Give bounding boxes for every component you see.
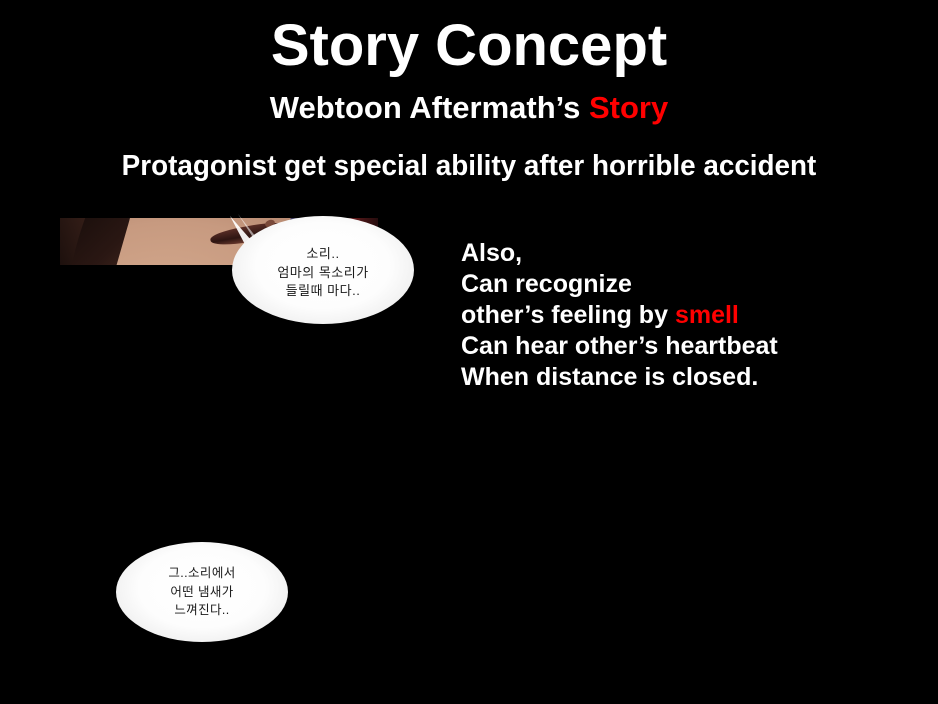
slide-tagline: Protagonist get special ability after ho… [19,150,919,183]
slide-subtitle: Webtoon Aftermath’s Story [0,90,938,126]
speech-bubble-1-text: 소리.. 엄마의 목소리가 들릴때 마다.. [277,245,368,302]
body-line-feeling-prefix: other’s feeling by [461,301,675,329]
speech-bubble-2: 그..소리에서 어떤 냄새가 느껴진다.. [116,542,288,642]
speech-bubble-2-text: 그..소리에서 어떤 냄새가 느껴진다.. [168,564,235,620]
body-paragraph-smell: Can recognizeother’s feeling by smell [461,269,901,331]
body-text-block: Also, Can recognizeother’s feeling by sm… [461,238,901,393]
body-paragraph-heartbeat: Can hear other’s heartbeat When distance… [461,331,901,393]
body-line-also: Also, [461,238,901,269]
slide-canvas: Story Concept Webtoon Aftermath’s Story … [0,0,938,704]
subtitle-prefix: Webtoon Aftermath’s [270,90,589,125]
body-line-recognize: Can recognize [461,270,632,298]
subtitle-accent: Story [589,90,668,125]
speech-bubble-1: 소리.. 엄마의 목소리가 들릴때 마다.. [232,216,414,324]
body-accent-smell: smell [675,301,739,329]
page-title: Story Concept [0,16,938,77]
